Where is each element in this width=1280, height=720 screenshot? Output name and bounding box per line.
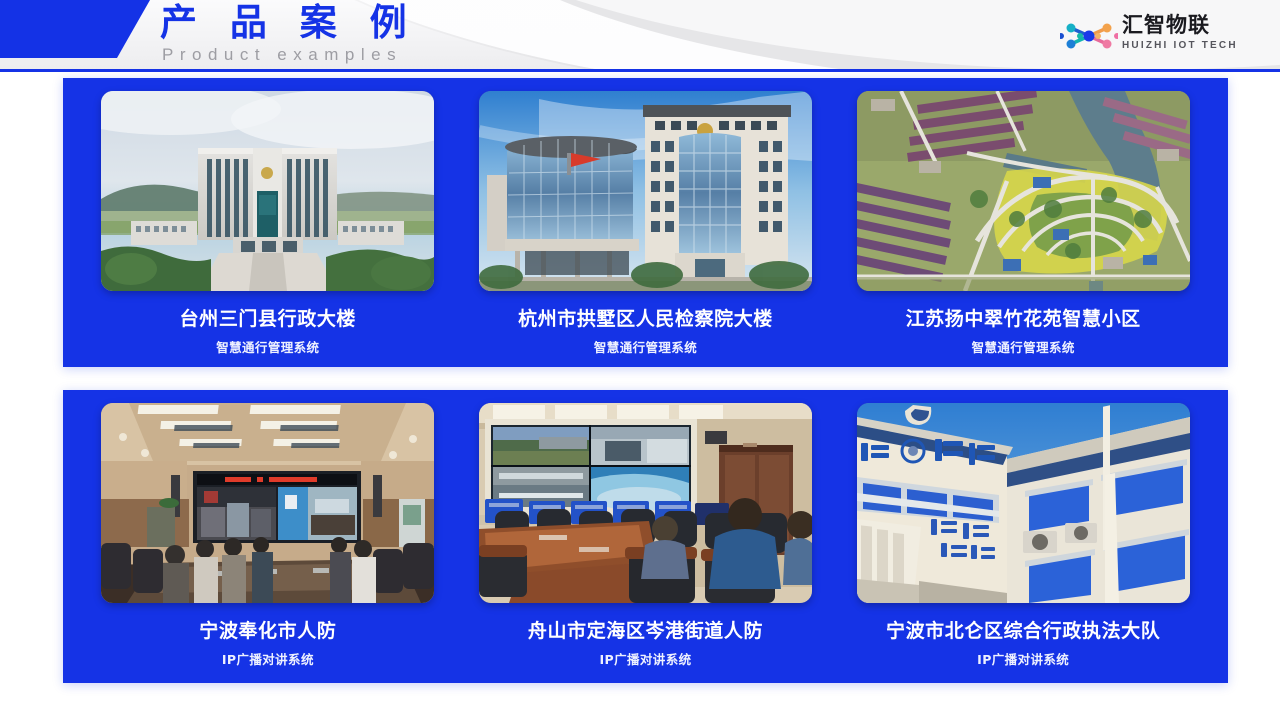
logo-name-cn: 汇智物联 [1122,12,1252,38]
project-panel-row-2: 宁波奉化市人防 IP广播对讲系统 [63,390,1228,683]
project-panel-row-1: 台州三门县行政大楼 智慧通行管理系统 [63,78,1228,367]
project-card[interactable]: 舟山市定海区岑港街道人防 IP广播对讲系统 [457,403,835,683]
project-subtitle: 智慧通行管理系统 [972,340,1075,356]
page-title-en: Product examples [162,45,402,65]
project-title: 江苏扬中翠竹花苑智慧小区 [906,307,1141,331]
logo-name-en: HUIZHI IOT TECH [1122,39,1252,53]
page-title-cn: 产 品 案 例 [160,1,417,45]
project-title: 舟山市定海区岑港街道人防 [528,619,763,643]
project-photo-aerial-community [857,91,1190,291]
project-subtitle: IP广播对讲系统 [222,652,314,668]
logo-molecule-icon [1060,18,1118,54]
project-photo-control-room [479,403,812,603]
project-photo-admin-building [101,91,434,291]
project-card[interactable]: 台州三门县行政大楼 智慧通行管理系统 [79,91,457,367]
project-card[interactable]: 宁波奉化市人防 IP广播对讲系统 [79,403,457,683]
project-photo-procuratorate [479,91,812,291]
project-title: 宁波市北仑区综合行政执法大队 [886,619,1160,643]
project-card[interactable]: 杭州市拱墅区人民检察院大楼 智慧通行管理系统 [457,91,835,367]
project-card[interactable]: 江苏扬中翠竹花苑智慧小区 智慧通行管理系统 [834,91,1212,367]
project-card[interactable]: 宁波市北仑区综合行政执法大队 IP广播对讲系统 [834,403,1212,683]
project-subtitle: 智慧通行管理系统 [594,340,697,356]
project-title: 宁波奉化市人防 [199,619,336,643]
header-blue-accent-block [0,0,150,58]
brand-logo[interactable]: 汇智物联 HUIZHI IOT TECH [1060,14,1250,60]
logo-text: 汇智物联 HUIZHI IOT TECH [1122,12,1252,53]
project-subtitle: IP广播对讲系统 [600,652,692,668]
project-subtitle: 智慧通行管理系统 [216,340,319,356]
project-photo-conference-room [101,403,434,603]
header-underline [0,69,1280,72]
project-photo-enforcement-building [857,403,1190,603]
project-subtitle: IP广播对讲系统 [977,652,1069,668]
project-title: 台州三门县行政大楼 [180,307,356,331]
project-title: 杭州市拱墅区人民检察院大楼 [518,307,773,331]
page-header: 产 品 案 例 Product examples 汇智物联 H [0,0,1280,72]
page-title: 产 品 案 例 Product examples [140,0,560,72]
